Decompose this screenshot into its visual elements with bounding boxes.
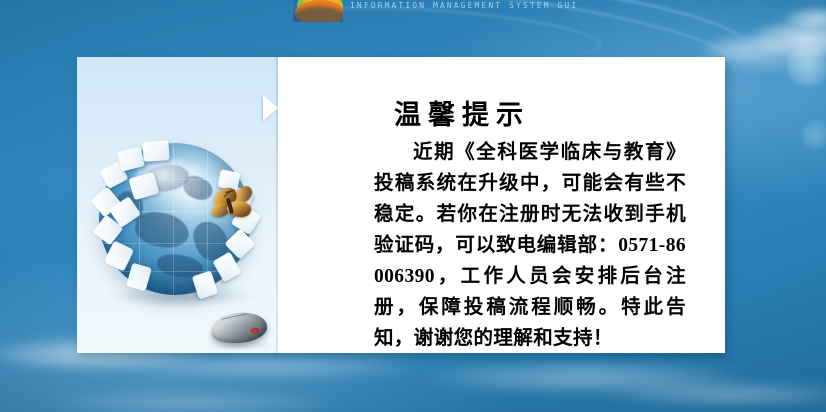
puzzle-piece: [142, 140, 169, 162]
sun-glow-secondary-icon: [800, 120, 826, 150]
puzzle-globe-graphic: [93, 135, 261, 307]
screenshot-root: INFORMATION MANAGEMENT SYSTEM GUI: [0, 0, 826, 412]
butterfly-graphic: [211, 187, 257, 227]
computer-mouse-graphic: [211, 313, 267, 343]
brand-header: INFORMATION MANAGEMENT SYSTEM GUI: [0, 0, 826, 18]
chevron-left-notch-icon: [263, 95, 278, 121]
illustration-panel: [77, 57, 278, 353]
notice-title: 温馨提示: [394, 93, 530, 132]
notice-card: 温馨提示 近期《全科医学临床与教育》投稿系统在升级中，可能会有些不稳定。若你在注…: [77, 57, 725, 353]
sun-glow-icon: [786, 44, 826, 88]
notice-body-text: 近期《全科医学临床与教育》投稿系统在升级中，可能会有些不稳定。若你在注册时无法收…: [374, 137, 686, 354]
brand-title: INFORMATION MANAGEMENT SYSTEM GUI: [350, 1, 578, 10]
notice-text-panel: 温馨提示 近期《全科医学临床与教育》投稿系统在升级中，可能会有些不稳定。若你在注…: [278, 57, 725, 353]
rainbow-swoosh-logo-icon[interactable]: [293, 0, 343, 22]
